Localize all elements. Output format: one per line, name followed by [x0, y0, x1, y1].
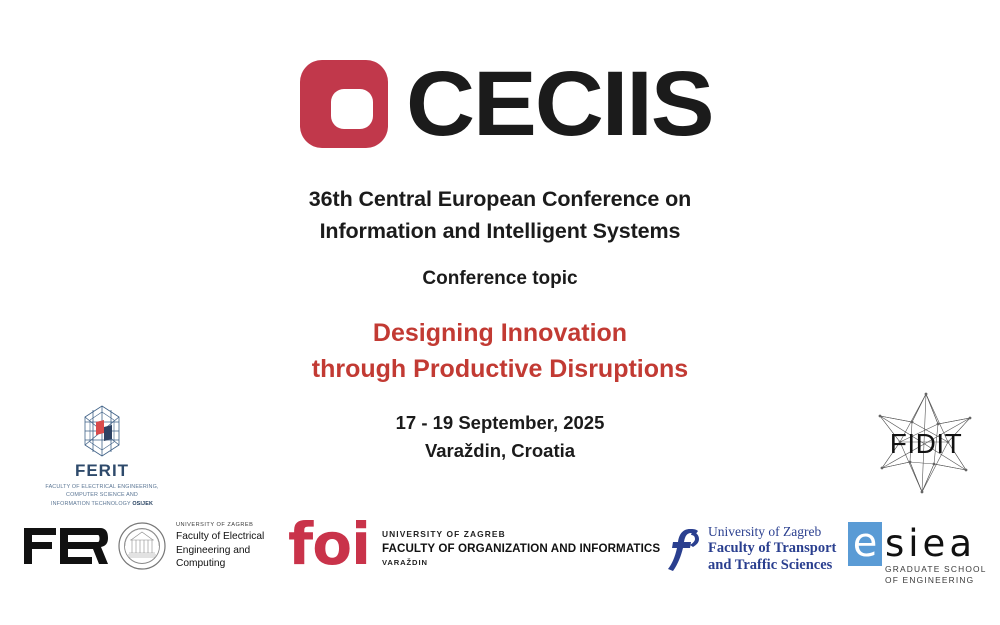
esiea-subtitle-line1: GRADUATE SCHOOL	[885, 564, 987, 575]
ceciis-logo: CECIIS	[0, 58, 1000, 150]
esiea-subtitle-line2: OF ENGINEERING	[885, 575, 987, 586]
fer-text-block: UNIVERSITY OF ZAGREB Faculty of Electric…	[176, 522, 264, 571]
conference-topic-label: Conference topic	[0, 268, 1000, 290]
partner-logo-fpz: University of Zagreb Faculty of Transpor…	[666, 524, 836, 574]
foi-faculty: FACULTY OF ORGANIZATION AND INFORMATICS	[382, 542, 660, 555]
esiea-wordmark: e siea	[848, 522, 987, 566]
fpz-university: University of Zagreb	[708, 524, 836, 540]
partner-logo-foi: foi UNIVERSITY OF ZAGREB FACULTY OF ORGA…	[288, 518, 660, 571]
hexagon-lattice-icon	[22, 403, 182, 459]
fer-faculty: Faculty of Electrical Engineering and Co…	[176, 530, 264, 571]
esiea-subtitle: GRADUATE SCHOOL OF ENGINEERING	[885, 564, 987, 586]
partner-logo-strip: UNIVERSITY OF ZAGREB Faculty of Electric…	[0, 512, 1000, 592]
ferit-subtitle: FACULTY OF ELECTRICAL ENGINEERING, COMPU…	[22, 483, 182, 508]
ferit-name: FERIT	[22, 461, 182, 481]
ferit-subtitle-line3-text: INFORMATION TECHNOLOGY	[51, 501, 132, 507]
partner-logo-fer: UNIVERSITY OF ZAGREB Faculty of Electric…	[22, 522, 264, 571]
conference-topic-line2: through Productive Disruptions	[0, 352, 1000, 388]
ceciis-logo-mark-icon	[300, 60, 388, 148]
university-seal-icon	[118, 522, 166, 570]
conference-title-line1: 36th Central European Conference on	[0, 184, 1000, 216]
esiea-letters-siea: siea	[885, 522, 976, 566]
fer-monogram-icon	[22, 524, 108, 568]
fpz-faculty-line2: and Traffic Sciences	[708, 557, 836, 574]
conference-title-line2: Information and Intelligent Systems	[0, 216, 1000, 248]
foi-text-block: UNIVERSITY OF ZAGREB FACULTY OF ORGANIZA…	[382, 523, 660, 567]
fer-university: UNIVERSITY OF ZAGREB	[176, 522, 264, 528]
f-monogram-icon	[666, 526, 702, 572]
conference-title: 36th Central European Conference on Info…	[0, 184, 1000, 248]
ferit-subtitle-line2: COMPUTER SCIENCE AND	[22, 491, 182, 499]
fer-faculty-line2: Engineering and	[176, 544, 264, 558]
partner-logo-ferit: FERIT FACULTY OF ELECTRICAL ENGINEERING,…	[22, 403, 182, 508]
fer-faculty-line3: Computing	[176, 557, 264, 571]
foi-university: UNIVERSITY OF ZAGREB	[382, 529, 660, 539]
partner-logo-fidit: FIDIT	[866, 390, 986, 495]
ferit-subtitle-line1: FACULTY OF ELECTRICAL ENGINEERING,	[22, 483, 182, 491]
esiea-letter-e: e	[848, 522, 882, 566]
ferit-city: OSIJEK	[132, 501, 153, 507]
ceciis-wordmark: CECIIS	[406, 58, 713, 150]
ferit-subtitle-line3: INFORMATION TECHNOLOGY OSIJEK	[22, 500, 182, 508]
fpz-faculty-line1: Faculty of Transport	[708, 540, 836, 557]
conference-topic-line1: Designing Innovation	[0, 316, 1000, 352]
partner-logo-esiea: e siea GRADUATE SCHOOL OF ENGINEERING	[848, 522, 987, 586]
fidit-name: FIDIT	[866, 428, 986, 460]
conference-topic: Designing Innovation through Productive …	[0, 316, 1000, 387]
fpz-text-block: University of Zagreb Faculty of Transpor…	[708, 524, 836, 574]
fer-faculty-line1: Faculty of Electrical	[176, 530, 264, 544]
foi-city: VARAŽDIN	[382, 558, 660, 567]
foi-wordmark: foi	[288, 518, 370, 571]
